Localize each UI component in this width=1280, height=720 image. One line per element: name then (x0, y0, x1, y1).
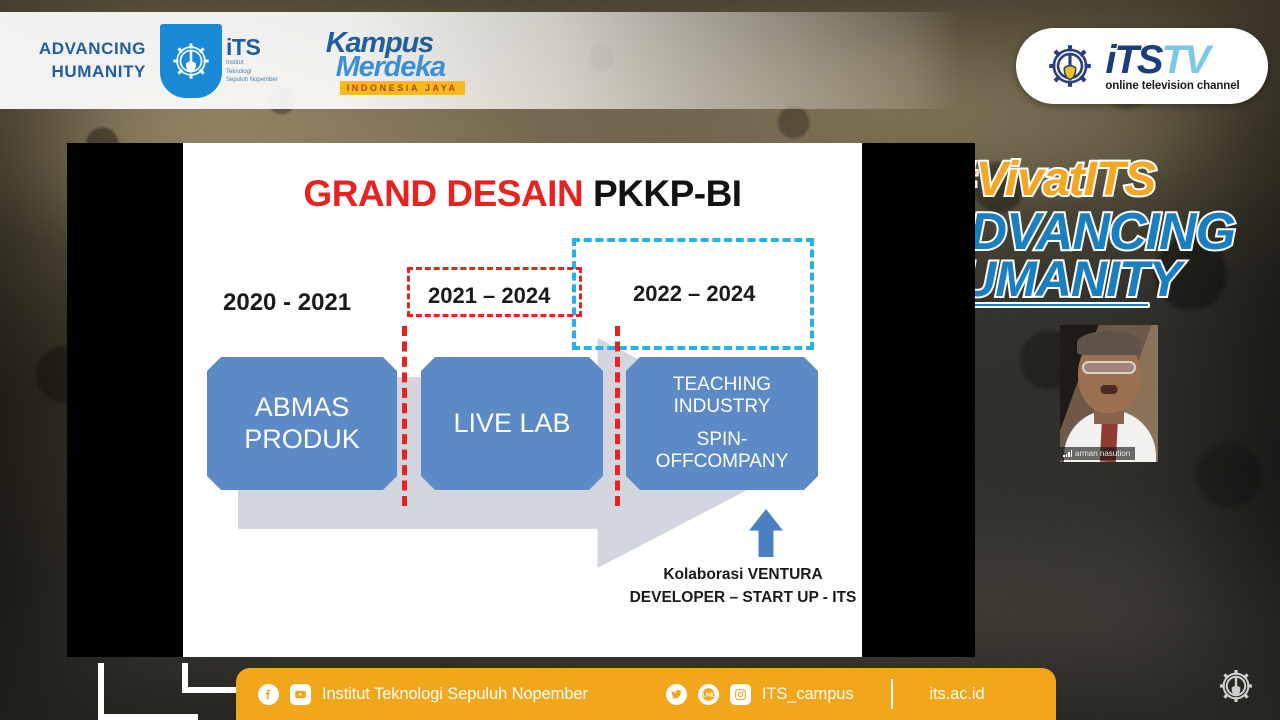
callout-line-2: DEVELOPER – START UP - ITS (618, 586, 868, 609)
phase-1-label-line-2: PRODUK (244, 424, 360, 455)
itstv-name-row: iTSTV (1105, 40, 1239, 80)
phase-3-label-line-4: OFFCOMPANY (656, 451, 789, 473)
callout-line-1: Kolaborasi VENTURA (618, 563, 868, 586)
phase-3-label-line-1: TEACHING (673, 374, 771, 396)
frame-bracket-left-bottom (98, 714, 198, 720)
advancing-humanity-tagline: ADVANCING HUMANITY (24, 38, 146, 83)
participant-name-label: arman nasution (1075, 449, 1130, 458)
its-gear-watermark-icon (1216, 666, 1256, 706)
its-full-line-2: Teknologi (226, 69, 278, 77)
participant-name-badge: arman nasution (1060, 447, 1135, 460)
participant-mouth (1101, 385, 1118, 394)
tagline-line-2: HUMANITY (24, 61, 146, 83)
itstv-tv-text: TV (1162, 38, 1209, 82)
youtube-icon[interactable] (290, 684, 311, 705)
phase-3-label-line-2: INDUSTRY (674, 396, 771, 418)
kampus-merdeka-logo: Kampus Merdeka INDONESIA JAYA (326, 25, 504, 97)
twitter-icon[interactable] (666, 684, 687, 705)
participant-video-tile[interactable]: arman nasution (1060, 325, 1158, 462)
organization-name: Institut Teknologi Sepuluh Nopember (322, 685, 588, 704)
up-arrow-icon (749, 509, 783, 557)
line-icon[interactable]: LINE (698, 684, 719, 705)
frame-bracket-left (98, 663, 120, 720)
phase-3-years: 2022 – 2024 (633, 281, 755, 307)
kampus-merdeka-line-2: Merdeka (336, 51, 445, 84)
collaboration-callout: Kolaborasi VENTURA DEVELOPER – START UP … (618, 563, 868, 610)
shared-screen-frame[interactable]: GRAND DESAIN PKKP-BI 2020 - 2021 2021 – … (67, 143, 975, 657)
footer-divider (891, 679, 893, 709)
itstv-wordmark: iTSTV online television channel (1105, 40, 1239, 93)
header-banner: ADVANCING HUMANITY iTS Institut Teknolog… (0, 12, 960, 109)
participant-glasses (1082, 361, 1136, 374)
its-wordmark: iTS Institut Teknologi Sepuluh Nopember (226, 36, 278, 85)
phase-2-box: LIVE LAB (421, 357, 603, 490)
its-gear-icon (1044, 40, 1096, 92)
participant-hair (1077, 331, 1141, 355)
kampus-merdeka-tagline: INDONESIA JAYA (340, 81, 465, 95)
svg-text:LINE: LINE (703, 692, 715, 698)
phase-3-label-line-3: SPIN- (697, 429, 748, 451)
signal-bars-icon (1063, 450, 1072, 457)
phase-1-years: 2020 - 2021 (223, 289, 351, 317)
phase-1-box: ABMAS PRODUK (207, 357, 397, 490)
phase-2-label-line-1: LIVE LAB (453, 408, 570, 439)
slide-title-black: PKKP-BI (593, 173, 742, 214)
phase-3-box: TEACHING INDUSTRY SPIN- OFFCOMPANY (626, 357, 818, 490)
website-url: its.ac.id (930, 685, 985, 704)
its-full-line-3: Sepuluh Nopember (226, 77, 278, 85)
phase-divider-2 (615, 326, 620, 506)
itstv-logo: iTSTV online television channel (1016, 28, 1268, 104)
facebook-icon[interactable] (258, 684, 279, 705)
slide-title: GRAND DESAIN PKKP-BI (183, 173, 862, 215)
itstv-subtitle: online television channel (1105, 81, 1239, 93)
footer-bar: Institut Teknologi Sepuluh Nopember LINE… (236, 668, 1056, 720)
presentation-slide: GRAND DESAIN PKKP-BI 2020 - 2021 2021 – … (183, 143, 862, 657)
phase-divider-1 (402, 326, 407, 506)
itstv-its-text: iTS (1105, 38, 1161, 82)
instagram-icon[interactable] (730, 684, 751, 705)
its-gear-shield-icon (170, 40, 212, 82)
social-handle: ITS_campus (762, 685, 854, 704)
phase-1-label-line-1: ABMAS (255, 392, 350, 423)
phase-2-years: 2021 – 2024 (428, 283, 550, 309)
tagline-line-1: ADVANCING (24, 38, 146, 60)
its-shield-logo (160, 24, 222, 98)
its-full-line-1: Institut (226, 60, 278, 68)
its-abbrev: iTS (226, 36, 278, 59)
slide-title-red: GRAND DESAIN (303, 173, 583, 214)
